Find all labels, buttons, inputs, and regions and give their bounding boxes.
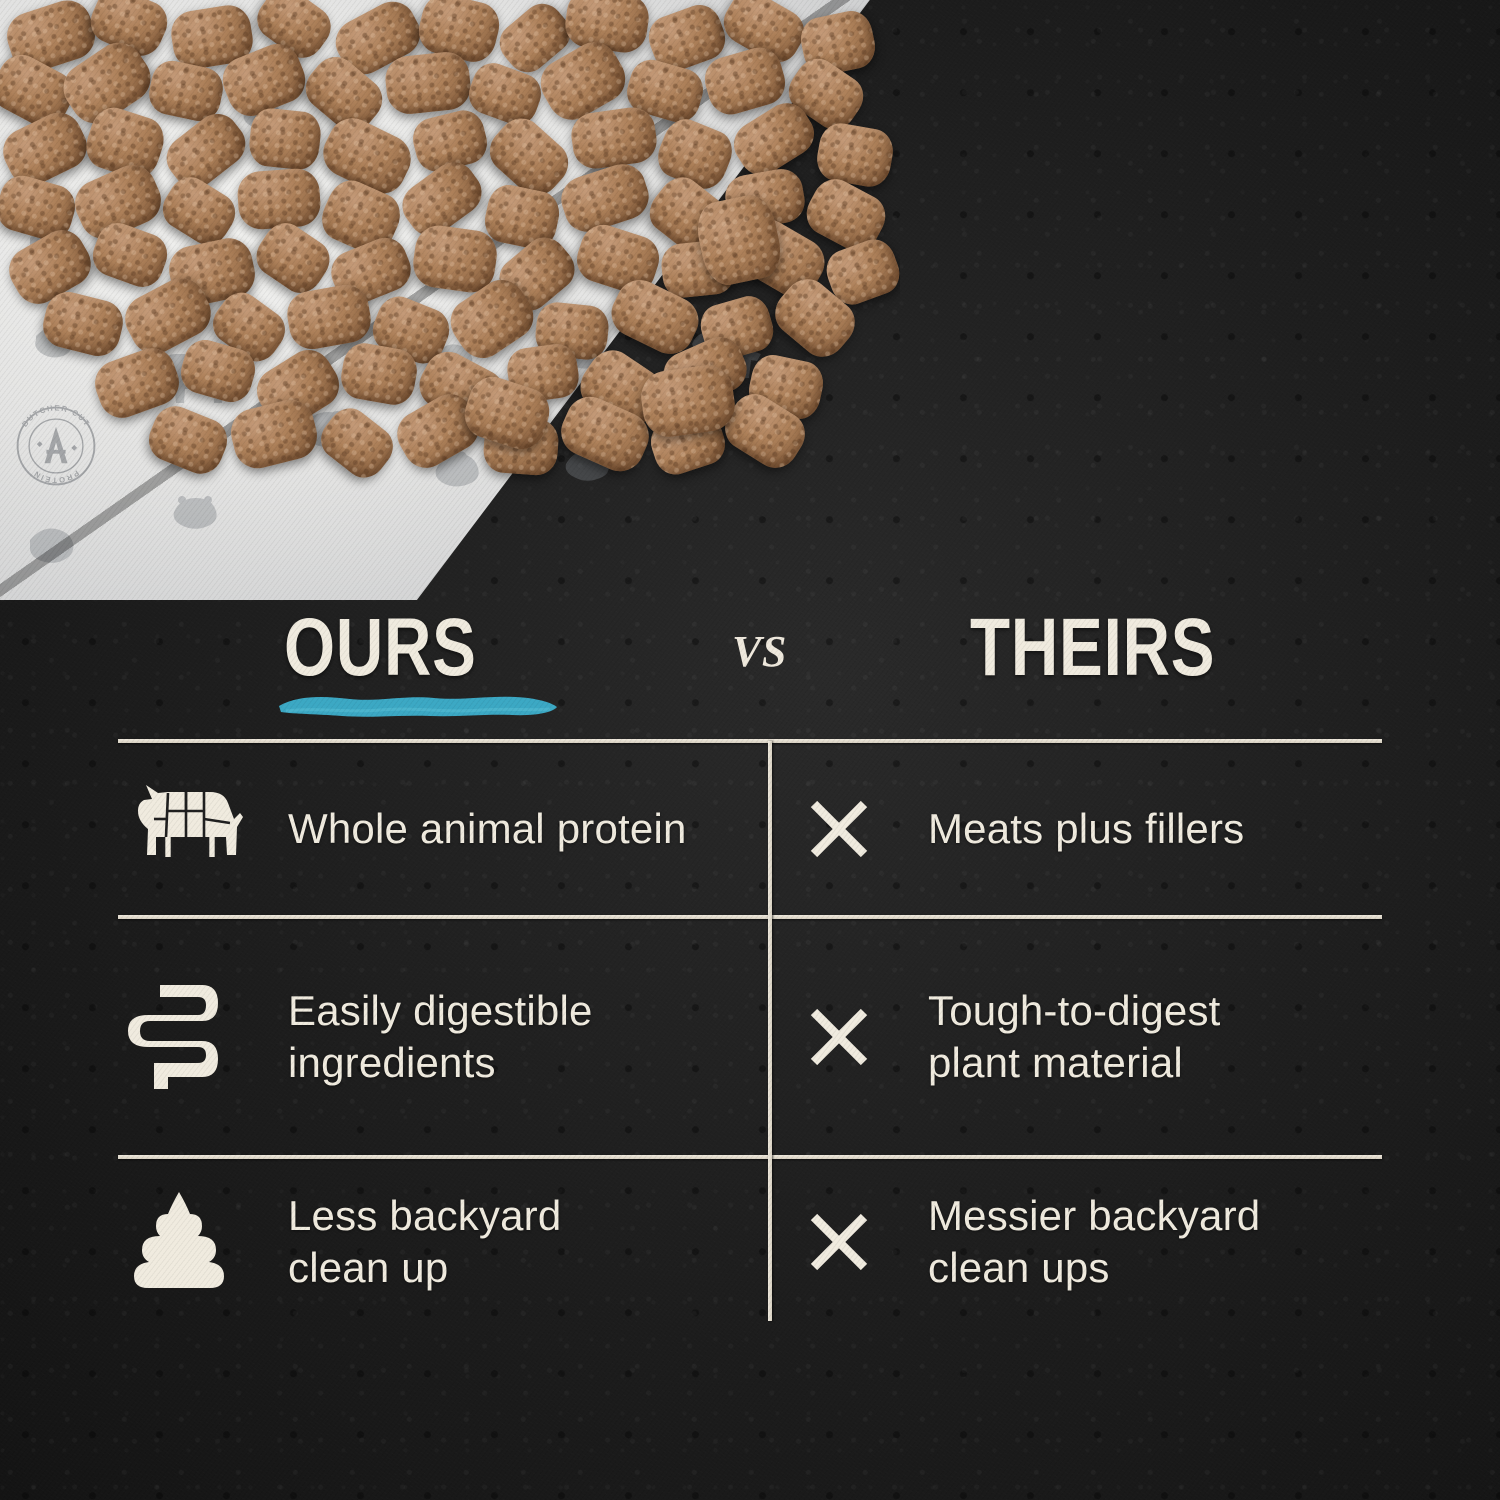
ours-feature-text: Whole animal protein [288, 803, 687, 855]
divider-line-2 [118, 915, 1382, 919]
x-mark-icon [784, 1006, 894, 1068]
ours-cell: Whole animal protein [124, 745, 754, 913]
comparison-row: Whole animal protein Meats plus fillers [118, 745, 1382, 913]
intestine-digestion-icon [124, 981, 254, 1093]
theirs-heading: THEIRS [970, 604, 1215, 692]
divider-line-3 [118, 1155, 1382, 1159]
duck-icon [30, 528, 73, 562]
vs-label: VS [732, 626, 787, 677]
theirs-cell: Meats plus fillers [784, 745, 1382, 913]
svg-text:BUTCHER CUT: BUTCHER CUT [20, 403, 92, 428]
ours-heading-group: OURS [284, 604, 574, 724]
theirs-heading-group: THEIRS [970, 604, 1277, 692]
ours-feature-text: Easily digestible ingredients [288, 985, 593, 1089]
divider-line-1 [118, 739, 1382, 743]
theirs-feature-text: Messier backyard clean ups [928, 1190, 1260, 1294]
ours-heading: OURS [284, 604, 516, 692]
comparison-row: Easily digestible ingredients Tough-to-d… [118, 921, 1382, 1153]
poop-icon [124, 1190, 254, 1294]
cow-butcher-chart-icon [124, 779, 254, 879]
theirs-feature-text: Meats plus fillers [928, 803, 1244, 855]
comparison-row: Less backyard clean up Messier backyard … [118, 1161, 1382, 1323]
pig-icon [174, 496, 217, 529]
butcher-cut-protein-stamp: BUTCHER CUT PROTEIN [8, 398, 104, 494]
ours-vs-theirs-comparison: OURS VS THEIRS [118, 590, 1382, 1330]
product-photo: BUTCHER CUT PROTEIN [0, 0, 900, 600]
ours-feature-text: Less backyard clean up [288, 1190, 561, 1294]
ours-cell: Easily digestible ingredients [124, 921, 754, 1153]
x-mark-icon [784, 1211, 894, 1273]
theirs-cell: Messier backyard clean ups [784, 1161, 1382, 1323]
product-comparison-graphic: BUTCHER CUT PROTEIN [0, 0, 1500, 1500]
comparison-header-row: OURS VS THEIRS [118, 590, 1382, 740]
theirs-cell: Tough-to-digest plant material [784, 921, 1382, 1153]
x-mark-icon [784, 798, 894, 860]
ours-cell: Less backyard clean up [124, 1161, 754, 1323]
svg-text:PROTEIN: PROTEIN [31, 469, 80, 485]
theirs-feature-text: Tough-to-digest plant material [928, 985, 1221, 1089]
